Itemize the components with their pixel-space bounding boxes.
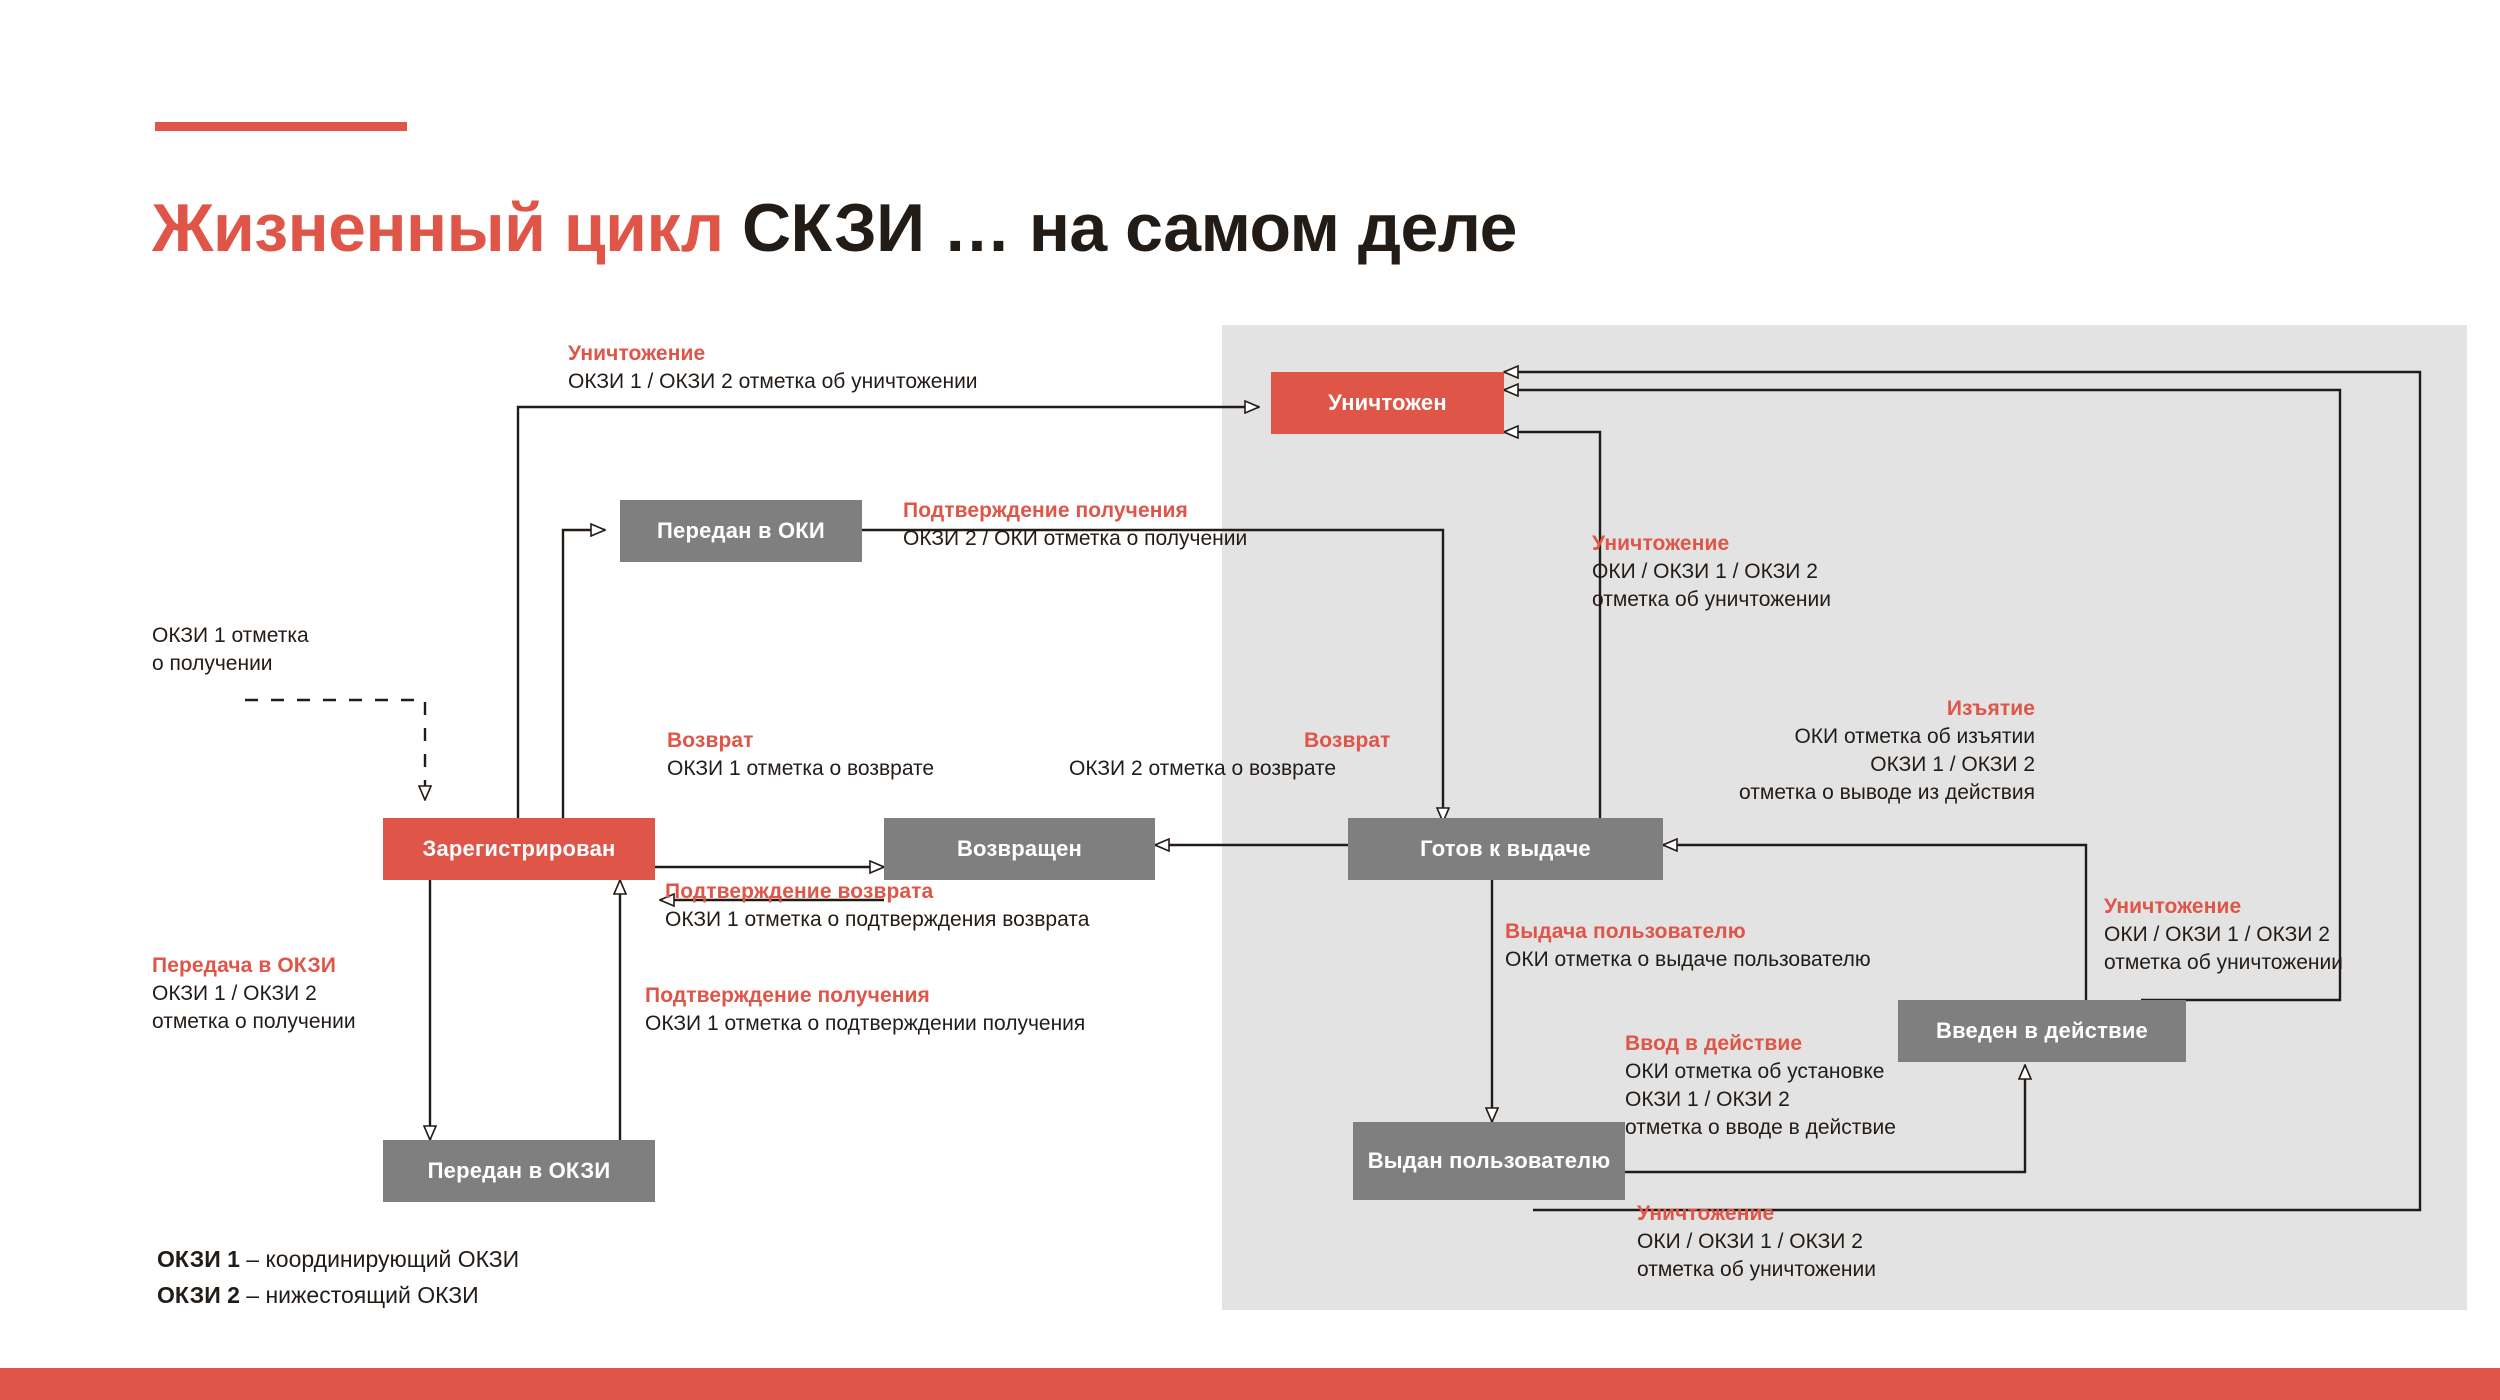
- node-destroyed-label: Уничтожен: [1328, 390, 1447, 416]
- legend-definition-okzi2: – нижестоящий ОКЗИ: [240, 1282, 479, 1308]
- annotation-return-confirm-highlight: Подтверждение возврата: [665, 878, 1089, 906]
- annotation-destroy-from-in-service-line-1: ОКИ / ОКЗИ 1 / ОКЗИ 2: [2104, 921, 2343, 949]
- annotation-withdrawal-highlight: Изъятие: [1620, 695, 2035, 723]
- footer-accent-bar: [0, 1368, 2500, 1400]
- annotation-destroy-from-issued-line-2: отметка об уничтожении: [1637, 1256, 1876, 1284]
- annotation-transfer-to-okzi-line-1: ОКЗИ 1 / ОКЗИ 2: [152, 980, 356, 1008]
- node-registered-label: Зарегистрирован: [423, 836, 616, 862]
- node-transferred-oki-label: Передан в ОКИ: [657, 518, 825, 544]
- legend-term-okzi1: ОКЗИ 1: [157, 1246, 240, 1272]
- legend-row-okzi1: ОКЗИ 1 – координирующий ОКЗИ: [157, 1242, 519, 1278]
- annotation-issue-to-user: Выдача пользователю ОКИ отметка о выдаче…: [1505, 918, 1871, 974]
- annotation-transfer-to-okzi: Передача в ОКЗИ ОКЗИ 1 / ОКЗИ 2 отметка …: [152, 952, 356, 1036]
- annotation-okzi1-receipt-dashed-line-2: о получении: [152, 650, 309, 678]
- node-transferred-oki[interactable]: Передан в ОКИ: [620, 500, 862, 562]
- annotation-return-okzi2-highlight: Возврат: [1304, 727, 1391, 755]
- legend: ОКЗИ 1 – координирующий ОКЗИ ОКЗИ 2 – ни…: [157, 1242, 519, 1313]
- annotation-put-in-service-line-2: ОКЗИ 1 / ОКЗИ 2: [1625, 1086, 1896, 1114]
- annotation-return-okzi1: Возврат ОКЗИ 1 отметка о возврате: [667, 727, 934, 783]
- annotation-return-okzi2-line-1: ОКЗИ 2 отметка о возврате: [1069, 755, 1391, 783]
- slide-canvas: Жизненный цикл СКЗИ … на самом деле: [0, 0, 2500, 1400]
- annotation-destroy-from-in-service: Уничтожение ОКИ / ОКЗИ 1 / ОКЗИ 2 отметк…: [2104, 893, 2343, 977]
- title-accent-rule: [155, 122, 407, 131]
- annotation-put-in-service-line-3: отметка о вводе в действие: [1625, 1114, 1896, 1142]
- annotation-withdrawal: Изъятие ОКИ отметка об изъятии ОКЗИ 1 / …: [1620, 695, 2035, 807]
- annotation-receipt-confirm-oki-line-1: ОКЗИ 2 / ОКИ отметка о получении: [903, 525, 1247, 553]
- annotation-put-in-service-line-1: ОКИ отметка об установке: [1625, 1058, 1896, 1086]
- annotation-receipt-confirm-oki: Подтверждение получения ОКЗИ 2 / ОКИ отм…: [903, 497, 1247, 553]
- annotation-okzi1-receipt-dashed: ОКЗИ 1 отметка о получении: [152, 622, 309, 678]
- node-ready-label: Готов к выдаче: [1420, 836, 1591, 862]
- annotation-destroy-from-registered: Уничтожение ОКЗИ 1 / ОКЗИ 2 отметка об у…: [568, 340, 978, 396]
- node-destroyed[interactable]: Уничтожен: [1271, 372, 1504, 434]
- legend-term-okzi2: ОКЗИ 2: [157, 1282, 240, 1308]
- node-in-service[interactable]: Введен в действие: [1898, 1000, 2186, 1062]
- annotation-destroy-from-in-service-line-2: отметка об уничтожении: [2104, 949, 2343, 977]
- annotation-receipt-confirm-oki-highlight: Подтверждение получения: [903, 497, 1247, 525]
- annotation-withdrawal-line-3: отметка о выводе из действия: [1620, 779, 2035, 807]
- annotation-issue-to-user-line-1: ОКИ отметка о выдаче пользователю: [1505, 946, 1871, 974]
- node-returned-label: Возвращен: [957, 836, 1082, 862]
- annotation-put-in-service-highlight: Ввод в действие: [1625, 1030, 1896, 1058]
- annotation-issue-to-user-highlight: Выдача пользователю: [1505, 918, 1871, 946]
- annotation-return-okzi2: Возврат ОКЗИ 2 отметка о возврате: [1069, 727, 1391, 783]
- annotation-receipt-confirm-okzi1-line-1: ОКЗИ 1 отметка о подтверждении получения: [645, 1010, 1085, 1038]
- annotation-destroy-from-registered-highlight: Уничтожение: [568, 340, 978, 368]
- node-registered[interactable]: Зарегистрирован: [383, 818, 655, 880]
- legend-row-okzi2: ОКЗИ 2 – нижестоящий ОКЗИ: [157, 1278, 519, 1314]
- annotation-okzi1-receipt-dashed-line-1: ОКЗИ 1 отметка: [152, 622, 309, 650]
- annotation-return-confirm: Подтверждение возврата ОКЗИ 1 отметка о …: [665, 878, 1089, 934]
- edge-registered-to-transferred-oki: [563, 530, 605, 818]
- annotation-receipt-confirm-okzi1: Подтверждение получения ОКЗИ 1 отметка о…: [645, 982, 1085, 1038]
- annotation-destroy-from-ready-line-1: ОКИ / ОКЗИ 1 / ОКЗИ 2: [1592, 558, 1831, 586]
- page-title: Жизненный цикл СКЗИ … на самом деле: [152, 191, 1517, 266]
- annotation-destroy-from-issued-line-1: ОКИ / ОКЗИ 1 / ОКЗИ 2: [1637, 1228, 1876, 1256]
- node-issued[interactable]: Выдан пользователю: [1353, 1122, 1625, 1200]
- annotation-destroy-from-in-service-highlight: Уничтожение: [2104, 893, 2343, 921]
- annotation-destroy-from-ready: Уничтожение ОКИ / ОКЗИ 1 / ОКЗИ 2 отметк…: [1592, 530, 1831, 614]
- node-transferred-okzi[interactable]: Передан в ОКЗИ: [383, 1140, 655, 1202]
- annotation-destroy-from-issued-highlight: Уничтожение: [1637, 1200, 1876, 1228]
- annotation-receipt-confirm-okzi1-highlight: Подтверждение получения: [645, 982, 1085, 1010]
- annotation-return-confirm-line-1: ОКЗИ 1 отметка о подтверждения возврата: [665, 906, 1089, 934]
- annotation-destroy-from-ready-highlight: Уничтожение: [1592, 530, 1831, 558]
- annotation-destroy-from-registered-line-1: ОКЗИ 1 / ОКЗИ 2 отметка об уничтожении: [568, 368, 978, 396]
- page-title-accent: Жизненный цикл: [152, 190, 724, 266]
- annotation-return-okzi1-line-1: ОКЗИ 1 отметка о возврате: [667, 755, 934, 783]
- annotation-put-in-service: Ввод в действие ОКИ отметка об установке…: [1625, 1030, 1896, 1142]
- node-issued-label: Выдан пользователю: [1368, 1148, 1611, 1174]
- node-returned[interactable]: Возвращен: [884, 818, 1155, 880]
- node-transferred-okzi-label: Передан в ОКЗИ: [428, 1158, 611, 1184]
- page-title-dark: СКЗИ … на самом деле: [742, 190, 1517, 266]
- node-in-service-label: Введен в действие: [1936, 1018, 2148, 1044]
- annotation-withdrawal-line-2: ОКЗИ 1 / ОКЗИ 2: [1620, 751, 2035, 779]
- edge-okzi1-receipt-dashed: [245, 700, 425, 800]
- annotation-destroy-from-ready-line-2: отметка об уничтожении: [1592, 586, 1831, 614]
- annotation-return-okzi1-highlight: Возврат: [667, 727, 934, 755]
- annotation-withdrawal-line-1: ОКИ отметка об изъятии: [1620, 723, 2035, 751]
- annotation-transfer-to-okzi-highlight: Передача в ОКЗИ: [152, 952, 356, 980]
- node-ready[interactable]: Готов к выдаче: [1348, 818, 1663, 880]
- annotation-destroy-from-issued: Уничтожение ОКИ / ОКЗИ 1 / ОКЗИ 2 отметк…: [1637, 1200, 1876, 1284]
- legend-definition-okzi1: – координирующий ОКЗИ: [240, 1246, 519, 1272]
- annotation-transfer-to-okzi-line-2: отметка о получении: [152, 1008, 356, 1036]
